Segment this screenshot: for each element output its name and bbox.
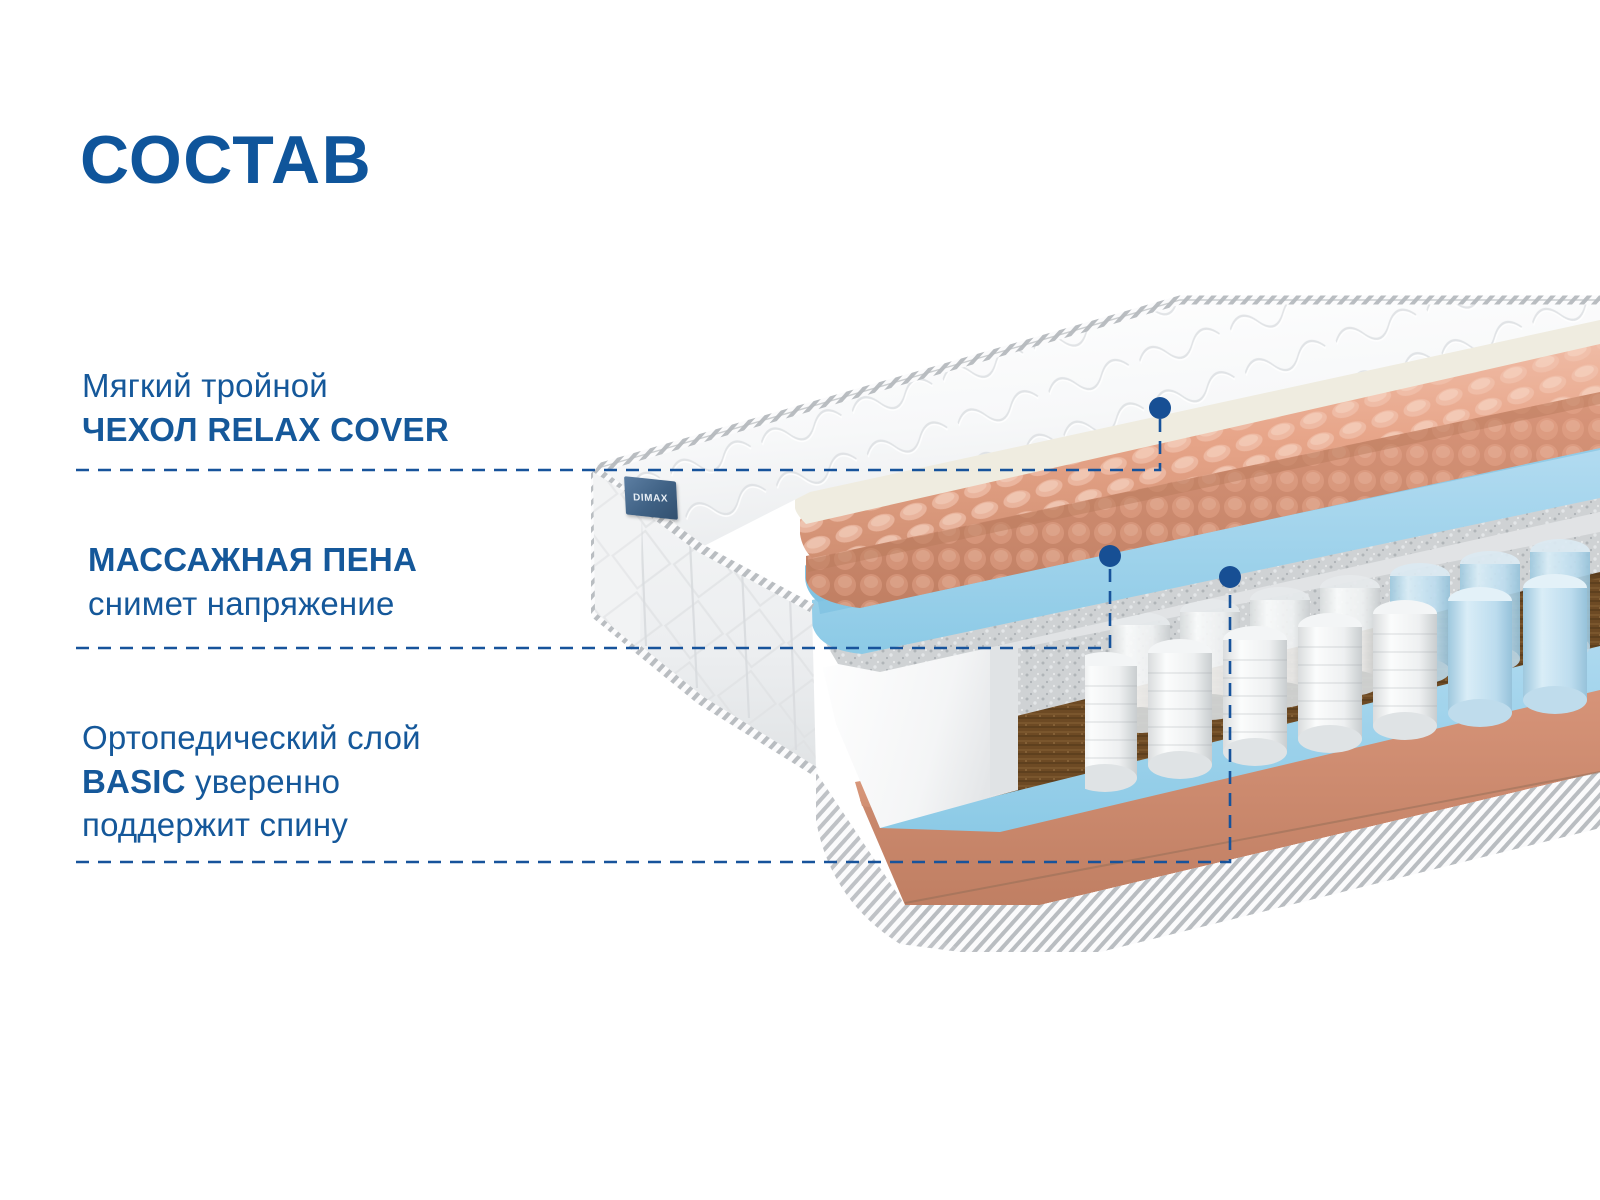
brand-tag-label: DIMAX <box>633 492 669 504</box>
infographic-page: СОСТАВ <box>0 0 1600 1200</box>
brand-tag: DIMAX <box>624 476 678 520</box>
mattress-cutaway-illustration <box>0 0 1600 1200</box>
